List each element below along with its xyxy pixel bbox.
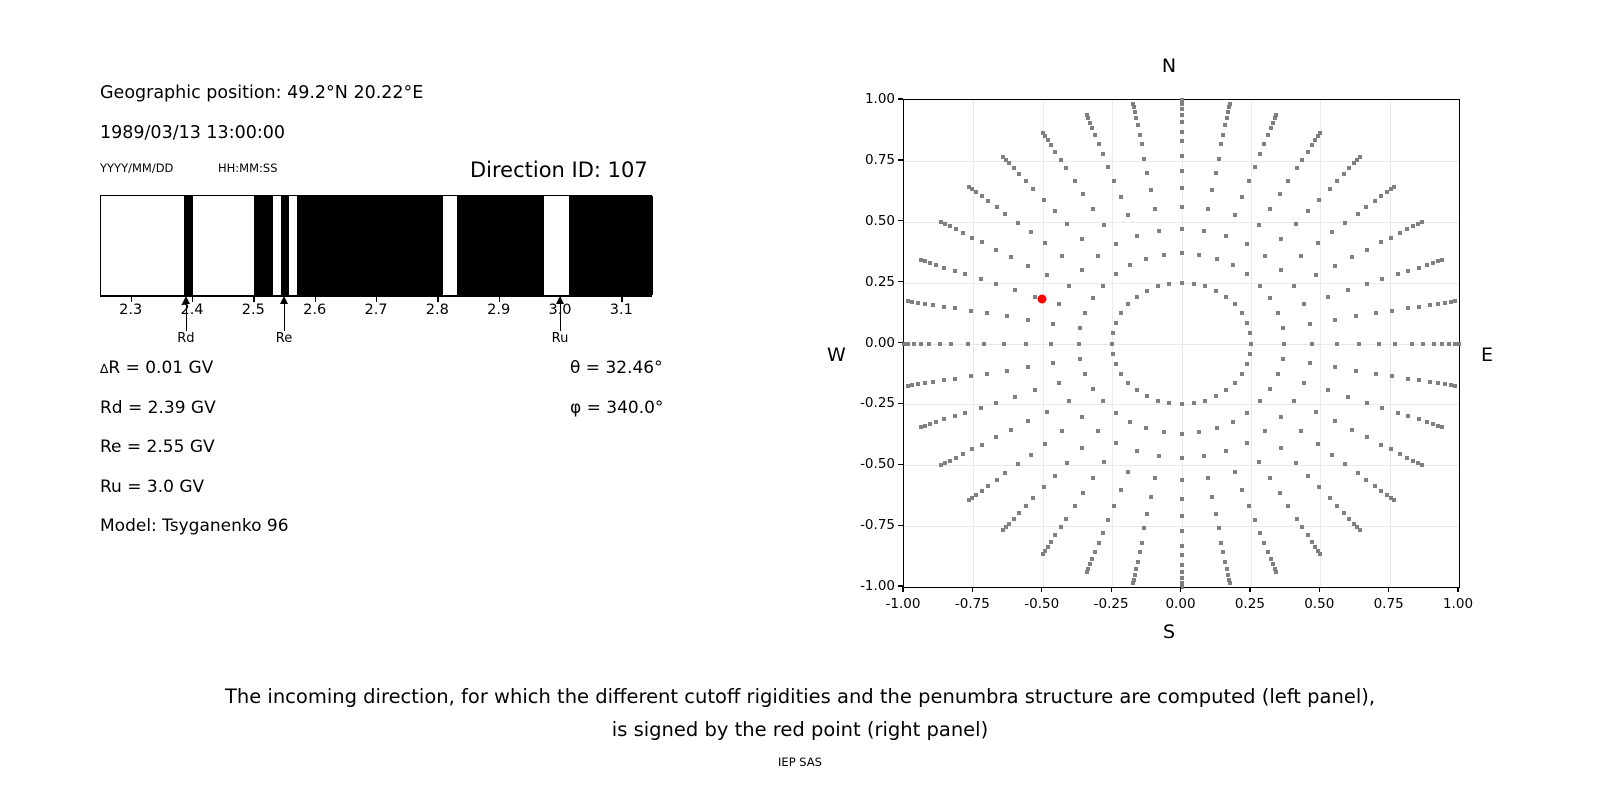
direction-dot bbox=[1225, 116, 1229, 120]
direction-dot bbox=[1221, 133, 1225, 137]
direction-dot bbox=[1432, 342, 1436, 346]
direction-dot bbox=[969, 374, 973, 378]
direction-dot bbox=[953, 269, 957, 273]
direction-dot bbox=[995, 478, 999, 482]
direction-dot bbox=[985, 311, 989, 315]
y-axis-tick bbox=[898, 159, 903, 160]
direction-dot bbox=[1049, 540, 1053, 544]
direction-dot bbox=[954, 227, 958, 231]
compass-south-label: S bbox=[1163, 621, 1175, 643]
direction-dot bbox=[1114, 272, 1118, 276]
direction-dot bbox=[1245, 362, 1249, 366]
direction-dot bbox=[1135, 295, 1139, 299]
direction-dot bbox=[1007, 522, 1011, 526]
direction-dot bbox=[1245, 272, 1249, 276]
direction-dot bbox=[1233, 302, 1237, 306]
direction-dot bbox=[1354, 369, 1358, 373]
direction-dot bbox=[948, 224, 952, 228]
direction-dot bbox=[1119, 195, 1123, 199]
penumbra-axis-tick-label: 2.9 bbox=[487, 302, 510, 318]
direction-dot bbox=[1343, 462, 1347, 466]
direction-dot bbox=[1026, 264, 1030, 268]
direction-dot bbox=[1142, 526, 1146, 530]
direction-dot bbox=[1247, 504, 1251, 508]
direction-dot bbox=[1145, 171, 1149, 175]
direction-dot bbox=[1356, 212, 1360, 216]
direction-dot bbox=[1085, 570, 1089, 574]
direction-dot bbox=[1292, 399, 1296, 403]
direction-dot bbox=[980, 194, 984, 198]
direction-dot bbox=[1240, 488, 1244, 492]
y-axis-tick bbox=[898, 220, 903, 221]
direction-dot bbox=[1180, 120, 1184, 124]
direction-dot bbox=[1167, 401, 1171, 405]
caption-line-1: The incoming direction, for which the di… bbox=[0, 680, 1600, 713]
x-axis-tick bbox=[1111, 587, 1112, 592]
direction-dot bbox=[1060, 254, 1064, 258]
direction-dot bbox=[1101, 284, 1105, 288]
direction-dot bbox=[1245, 321, 1249, 325]
direction-dot bbox=[1065, 461, 1069, 465]
direction-dot bbox=[1300, 158, 1304, 162]
direction-dot bbox=[1333, 365, 1337, 369]
direction-dot bbox=[906, 384, 910, 388]
figure-caption: The incoming direction, for which the di… bbox=[0, 680, 1600, 746]
direction-dot bbox=[1016, 221, 1020, 225]
direction-dot bbox=[1053, 533, 1057, 537]
direction-dot bbox=[912, 342, 916, 346]
direction-dot bbox=[1276, 311, 1280, 315]
direction-dot bbox=[1425, 420, 1429, 424]
direction-dot bbox=[1306, 474, 1310, 478]
direction-dot bbox=[1180, 281, 1184, 285]
direction-dot bbox=[1310, 540, 1314, 544]
direction-dot bbox=[1210, 495, 1214, 499]
direction-dot bbox=[1180, 139, 1184, 143]
direction-dot bbox=[1126, 213, 1130, 217]
direction-dot bbox=[1202, 229, 1206, 233]
direction-dot bbox=[1263, 254, 1267, 258]
penumbra-axis-tick-label: 2.3 bbox=[119, 302, 142, 318]
direction-dot bbox=[1406, 269, 1410, 273]
direction-dot bbox=[1057, 381, 1061, 385]
direction-dot bbox=[1067, 399, 1071, 403]
direction-dot bbox=[1206, 476, 1210, 480]
direction-dot bbox=[1106, 165, 1110, 169]
direction-dot bbox=[1279, 415, 1283, 419]
direction-dot bbox=[1156, 399, 1160, 403]
direction-dot bbox=[1328, 187, 1332, 191]
direction-dot bbox=[1026, 318, 1030, 322]
penumbra-axis-tick-label: 2.7 bbox=[364, 302, 387, 318]
penumbra-bar bbox=[100, 195, 652, 296]
direction-dot bbox=[1081, 192, 1085, 196]
direction-dot bbox=[982, 342, 986, 346]
x-axis-tick-label: -0.75 bbox=[955, 596, 990, 612]
direction-dot bbox=[980, 443, 984, 447]
direction-dot bbox=[1343, 221, 1347, 225]
direction-dot bbox=[1045, 410, 1049, 414]
direction-dot bbox=[1357, 342, 1361, 346]
direction-dot bbox=[1271, 121, 1275, 125]
direction-dot bbox=[1042, 198, 1046, 202]
direction-dot bbox=[1417, 305, 1421, 309]
y-axis-tick bbox=[898, 403, 903, 404]
direction-dot bbox=[1033, 388, 1037, 392]
direction-dot bbox=[942, 417, 946, 421]
direction-dot bbox=[1064, 517, 1068, 521]
direction-dot bbox=[1379, 443, 1383, 447]
direction-dot bbox=[1274, 113, 1278, 117]
direction-dot bbox=[931, 380, 935, 384]
direction-dot bbox=[1310, 143, 1314, 147]
direction-dot bbox=[1377, 342, 1381, 346]
direction-dot bbox=[923, 381, 927, 385]
direction-dot bbox=[938, 342, 942, 346]
direction-dot bbox=[1233, 470, 1237, 474]
direction-dot bbox=[961, 452, 965, 456]
direction-dot bbox=[1278, 491, 1282, 495]
y-axis-tick-label: 1.00 bbox=[840, 91, 895, 107]
direction-dot bbox=[1138, 550, 1142, 554]
direction-dot bbox=[1167, 282, 1171, 286]
direction-dot bbox=[1012, 517, 1016, 521]
direction-dot bbox=[1157, 454, 1161, 458]
direction-dot bbox=[1228, 102, 1232, 106]
direction-dot bbox=[1248, 352, 1252, 356]
direction-dot bbox=[1443, 382, 1447, 386]
direction-dot bbox=[1380, 277, 1384, 281]
direction-dot bbox=[1090, 557, 1094, 561]
direction-dot bbox=[1215, 426, 1219, 430]
direction-dot bbox=[1083, 311, 1087, 315]
direction-dot bbox=[1128, 420, 1132, 424]
direction-dot bbox=[1330, 453, 1334, 457]
direction-dot bbox=[1294, 222, 1298, 226]
direction-dot bbox=[1083, 372, 1087, 376]
y-axis-tick bbox=[898, 98, 903, 99]
footer-credit: IEP SAS bbox=[0, 755, 1600, 769]
direction-dot bbox=[1210, 188, 1214, 192]
y-axis-tick bbox=[898, 342, 903, 343]
y-axis-tick-label: 0.25 bbox=[840, 274, 895, 290]
direction-dot bbox=[1180, 478, 1184, 482]
direction-dot bbox=[1314, 273, 1318, 277]
direction-dot bbox=[1114, 242, 1118, 246]
direction-dot bbox=[1088, 562, 1092, 566]
direction-dot bbox=[1306, 209, 1310, 213]
direction-dot bbox=[1215, 257, 1219, 261]
direction-dot bbox=[1132, 105, 1136, 109]
direction-dot bbox=[1003, 471, 1007, 475]
direction-dot bbox=[1347, 166, 1351, 170]
direction-dot bbox=[1133, 573, 1137, 577]
direction-dot bbox=[1342, 172, 1346, 176]
direction-dot bbox=[966, 342, 970, 346]
direction-dot bbox=[1347, 517, 1351, 521]
direction-dot bbox=[1009, 428, 1013, 432]
direction-dot bbox=[1119, 311, 1123, 315]
x-axis-tick bbox=[1041, 587, 1042, 592]
y-axis-tick-label: -0.50 bbox=[840, 456, 895, 472]
direction-dot bbox=[1262, 142, 1266, 146]
direction-dot bbox=[1365, 248, 1369, 252]
direction-dot bbox=[1410, 342, 1414, 346]
compass-north-label: N bbox=[1162, 55, 1176, 77]
selected-direction-marker[interactable] bbox=[1037, 294, 1046, 303]
direction-dot bbox=[1425, 263, 1429, 267]
direction-dot bbox=[1140, 142, 1144, 146]
direction-dot bbox=[1286, 179, 1290, 183]
direction-dot bbox=[1318, 131, 1322, 135]
direction-dot bbox=[969, 309, 973, 313]
direction-dot bbox=[1114, 411, 1118, 415]
direction-dot bbox=[1051, 361, 1055, 365]
direction-dots-layer bbox=[904, 100, 1459, 587]
direction-dot bbox=[1405, 456, 1409, 460]
direction-dot bbox=[1111, 352, 1115, 356]
direction-dot bbox=[1206, 207, 1210, 211]
direction-dot bbox=[919, 258, 923, 262]
direction-dot bbox=[1262, 541, 1266, 545]
direction-dot bbox=[953, 414, 957, 418]
direction-dot bbox=[1328, 496, 1332, 500]
direction-dot bbox=[953, 377, 957, 381]
direction-dot bbox=[928, 422, 932, 426]
direction-dot bbox=[1266, 133, 1270, 137]
direction-dot bbox=[1180, 514, 1184, 518]
direction-dot bbox=[994, 248, 998, 252]
direction-dot bbox=[1411, 459, 1415, 463]
direction-dot bbox=[1135, 449, 1139, 453]
direction-dot bbox=[1180, 576, 1184, 580]
direction-dot bbox=[1024, 342, 1028, 346]
direction-dot bbox=[1392, 185, 1396, 189]
direction-dot bbox=[1308, 322, 1312, 326]
direction-dot bbox=[1134, 567, 1138, 571]
direction-dot bbox=[1057, 302, 1061, 306]
direction-dot bbox=[1365, 282, 1369, 286]
direction-dot bbox=[1180, 432, 1184, 436]
y-axis-tick-label: 0.00 bbox=[840, 335, 895, 351]
x-axis-tick bbox=[1319, 587, 1320, 592]
direction-dot bbox=[1091, 296, 1095, 300]
direction-dot bbox=[1026, 365, 1030, 369]
direction-dot bbox=[1101, 152, 1105, 156]
direction-dot bbox=[1390, 374, 1394, 378]
direction-dot bbox=[1373, 199, 1377, 203]
direction-dot bbox=[1144, 426, 1148, 430]
direction-dot bbox=[1102, 460, 1106, 464]
direction-dot bbox=[1306, 150, 1310, 154]
direction-dot bbox=[1306, 533, 1310, 537]
direction-dot bbox=[1224, 388, 1228, 392]
direction-dot bbox=[1440, 425, 1444, 429]
left-panel: Geographic position: 49.2°N 20.22°E 1989… bbox=[0, 0, 760, 660]
direction-dot bbox=[1219, 142, 1223, 146]
direction-dot bbox=[1005, 369, 1009, 373]
direction-dot bbox=[1224, 449, 1228, 453]
direction-dot bbox=[1091, 207, 1095, 211]
direction-dot bbox=[1041, 131, 1045, 135]
direction-dot bbox=[1380, 406, 1384, 410]
direction-dot bbox=[934, 263, 938, 267]
direction-dot bbox=[1326, 388, 1330, 392]
direction-dot bbox=[1180, 130, 1184, 134]
direction-dot bbox=[1002, 342, 1006, 346]
x-axis-tick bbox=[1388, 587, 1389, 592]
marker-label-rd: Rd bbox=[177, 331, 194, 346]
direction-dot bbox=[1091, 387, 1095, 391]
direction-dot bbox=[1253, 518, 1257, 522]
direction-dot bbox=[1007, 161, 1011, 165]
direction-dot bbox=[1093, 550, 1097, 554]
direction-dot bbox=[1060, 429, 1064, 433]
direction-dot bbox=[919, 342, 923, 346]
direction-dot bbox=[953, 306, 957, 310]
direction-dot bbox=[1197, 253, 1201, 257]
direction-dot bbox=[1389, 236, 1393, 240]
direction-dot bbox=[1001, 155, 1005, 159]
direction-dot bbox=[1145, 512, 1149, 516]
direction-dot bbox=[906, 299, 910, 303]
direction-dot bbox=[1031, 187, 1035, 191]
direction-dot bbox=[1003, 212, 1007, 216]
x-axis-tick bbox=[972, 587, 973, 592]
direction-dot bbox=[916, 382, 920, 386]
direction-dot bbox=[1282, 342, 1286, 346]
direction-dot bbox=[1440, 258, 1444, 262]
direction-dot bbox=[1114, 441, 1118, 445]
direction-dot bbox=[1102, 223, 1106, 227]
direction-dot bbox=[1162, 253, 1166, 257]
direction-dot bbox=[916, 301, 920, 305]
direction-dot bbox=[1374, 372, 1378, 376]
direction-dot bbox=[1228, 581, 1232, 585]
direction-dot bbox=[1106, 518, 1110, 522]
marker-arrow-rd bbox=[186, 303, 187, 331]
direction-dot bbox=[1278, 192, 1282, 196]
direction-dot bbox=[1133, 110, 1137, 114]
marker-arrowhead-ru bbox=[556, 296, 564, 304]
caption-line-2: is signed by the red point (right panel) bbox=[0, 713, 1600, 746]
direction-dot bbox=[1114, 321, 1118, 325]
direction-dot bbox=[942, 266, 946, 270]
direction-dot bbox=[1281, 326, 1285, 330]
direction-dot bbox=[1300, 525, 1304, 529]
direction-dot bbox=[967, 498, 971, 502]
direction-dot bbox=[1135, 388, 1139, 392]
direction-dot bbox=[1258, 284, 1262, 288]
direction-dot bbox=[1073, 179, 1077, 183]
direction-dot bbox=[1318, 552, 1322, 556]
direction-dot bbox=[963, 411, 967, 415]
direction-dot bbox=[1067, 284, 1071, 288]
direction-dot bbox=[986, 199, 990, 203]
direction-dot bbox=[1091, 476, 1095, 480]
direction-dot bbox=[1221, 550, 1225, 554]
direction-dot bbox=[986, 484, 990, 488]
direction-dot bbox=[1406, 414, 1410, 418]
direction-dot bbox=[1308, 361, 1312, 365]
parameter-left-0: ∆R = 0.01 GV bbox=[100, 358, 213, 378]
direction-dot bbox=[1396, 272, 1400, 276]
direction-dot bbox=[1226, 110, 1230, 114]
direction-dot bbox=[1314, 410, 1318, 414]
parameter-left-2: Re = 2.55 GV bbox=[100, 437, 215, 457]
direction-dot bbox=[1136, 560, 1140, 564]
direction-dot bbox=[1144, 257, 1148, 261]
direction-dot bbox=[1024, 504, 1028, 508]
direction-dot bbox=[1258, 152, 1262, 156]
direction-dot bbox=[1112, 179, 1116, 183]
direction-dot bbox=[1279, 268, 1283, 272]
direction-dot bbox=[1417, 266, 1421, 270]
direction-dot bbox=[1226, 573, 1230, 577]
direction-dot bbox=[1299, 429, 1303, 433]
parameter-right-1: φ = 340.0° bbox=[570, 398, 663, 418]
direction-dot bbox=[1392, 498, 1396, 502]
direction-dot bbox=[1223, 560, 1227, 564]
direction-dot bbox=[1428, 380, 1432, 384]
direction-dot bbox=[1271, 562, 1275, 566]
direction-dot bbox=[1031, 496, 1035, 500]
direction-dot bbox=[1029, 453, 1033, 457]
direction-dot bbox=[1140, 541, 1144, 545]
direction-dot bbox=[1248, 331, 1252, 335]
direction-dot bbox=[1051, 322, 1055, 326]
direction-dot bbox=[948, 459, 952, 463]
direction-dot bbox=[1180, 497, 1184, 501]
direction-dot bbox=[1043, 241, 1047, 245]
direction-dot bbox=[1286, 504, 1290, 508]
direction-dot bbox=[1302, 302, 1306, 306]
direction-dot bbox=[1443, 301, 1447, 305]
direction-dot bbox=[1192, 401, 1196, 405]
direction-dot bbox=[1453, 299, 1457, 303]
direction-dot bbox=[923, 424, 927, 428]
direction-dot bbox=[949, 342, 953, 346]
direction-dot bbox=[1180, 102, 1184, 106]
direction-dot bbox=[1317, 485, 1321, 489]
direction-dot bbox=[923, 302, 927, 306]
direction-dot bbox=[1428, 303, 1432, 307]
direction-dot bbox=[1364, 205, 1368, 209]
direction-dot bbox=[1192, 282, 1196, 286]
direction-dot bbox=[1128, 263, 1132, 267]
direction-dot bbox=[1053, 209, 1057, 213]
direction-dot bbox=[1333, 264, 1337, 268]
direction-dot bbox=[1078, 326, 1082, 330]
y-axis-tick bbox=[898, 464, 903, 465]
x-axis-tick-label: 0.75 bbox=[1374, 596, 1404, 612]
direction-dot bbox=[1333, 419, 1337, 423]
direction-dot bbox=[970, 236, 974, 240]
direction-dot bbox=[1093, 133, 1097, 137]
direction-dot bbox=[1379, 194, 1383, 198]
direction-dot bbox=[1180, 529, 1184, 533]
direction-dot bbox=[1217, 157, 1221, 161]
direction-dot bbox=[1253, 165, 1257, 169]
y-axis-tick bbox=[898, 525, 903, 526]
y-axis-tick-label: -0.25 bbox=[840, 395, 895, 411]
direction-dot bbox=[1333, 318, 1337, 322]
direction-dot bbox=[1225, 567, 1229, 571]
direction-dot bbox=[1214, 289, 1218, 293]
x-axis-tick-label: 1.00 bbox=[1443, 596, 1473, 612]
direction-dot bbox=[1005, 314, 1009, 318]
direction-dot bbox=[1257, 223, 1261, 227]
